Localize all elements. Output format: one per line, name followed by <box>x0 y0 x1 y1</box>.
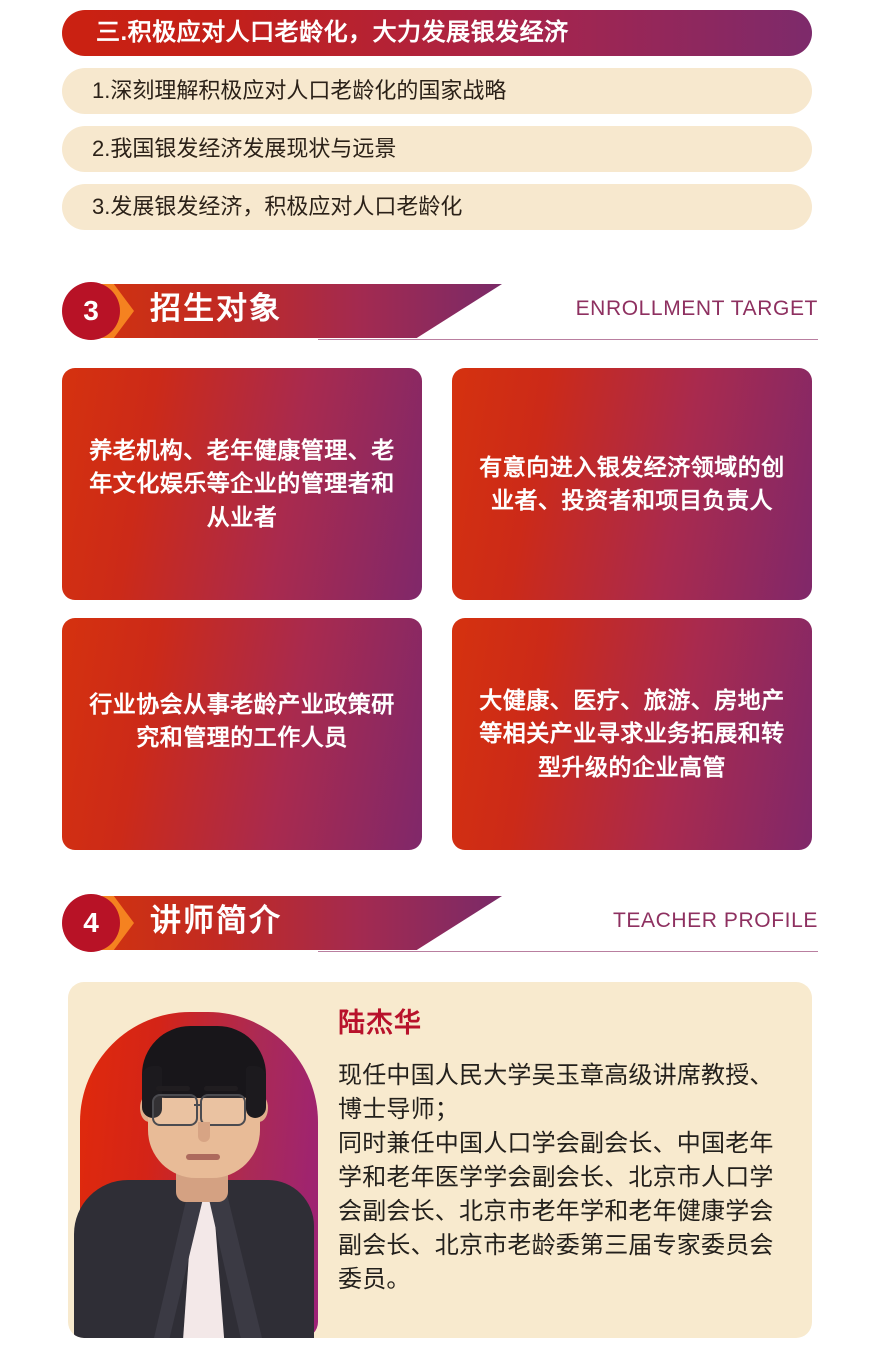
portrait-mouth <box>186 1154 220 1160</box>
teacher-portrait-illustration <box>68 982 320 1338</box>
portrait-glasses-left <box>152 1094 198 1126</box>
teacher-photo <box>68 982 320 1338</box>
enrollment-card-grid: 养老机构、老年健康管理、老年文化娱乐等企业的管理者和从业者 有意向进入银发经济领… <box>62 368 812 850</box>
section-number-text: 3 <box>83 297 99 325</box>
enrollment-card-4-text: 大健康、医疗、旅游、房地产等相关产业寻求业务拓展和转型升级的企业高管 <box>474 684 790 784</box>
section-number-badge: 3 <box>62 282 120 340</box>
outline-item-1-label: 1.深刻理解积极应对人口老龄化的国家战略 <box>92 80 506 102</box>
section-subtitle-enrollment: ENROLLMENT TARGET <box>576 298 818 319</box>
enrollment-card-3: 行业协会从事老龄产业政策研究和管理的工作人员 <box>62 618 422 850</box>
portrait-eyebrow-left <box>156 1086 190 1091</box>
outline-item-3: 3.发展银发经济，积极应对人口老龄化 <box>62 184 812 230</box>
course-outline-block: 三.积极应对人口老龄化，大力发展银发经济 1.深刻理解积极应对人口老龄化的国家战… <box>62 10 812 230</box>
section-header-enrollment: 3 招生对象 ENROLLMENT TARGET <box>62 282 818 344</box>
portrait-nose <box>198 1122 210 1142</box>
portrait-glasses-bridge <box>194 1104 202 1106</box>
section-number-badge: 4 <box>62 894 120 952</box>
enrollment-card-2: 有意向进入银发经济领域的创业者、投资者和项目负责人 <box>452 368 812 600</box>
section-title-teacher: 讲师简介 <box>150 905 282 936</box>
enrollment-card-3-text: 行业协会从事老龄产业政策研究和管理的工作人员 <box>84 688 400 755</box>
section-underline <box>318 951 818 952</box>
enrollment-card-2-text: 有意向进入银发经济领域的创业者、投资者和项目负责人 <box>474 451 790 518</box>
teacher-name: 陆杰华 <box>338 1010 788 1037</box>
teacher-profile-panel: 陆杰华 现任中国人民大学吴玉章高级讲席教授、博士导师； 同时兼任中国人口学会副会… <box>68 982 812 1338</box>
outline-title-bar: 三.积极应对人口老龄化，大力发展银发经济 <box>62 10 812 56</box>
section-number-text: 4 <box>83 909 99 937</box>
outline-item-2: 2.我国银发经济发展现状与远景 <box>62 126 812 172</box>
outline-item-1: 1.深刻理解积极应对人口老龄化的国家战略 <box>62 68 812 114</box>
outline-item-2-label: 2.我国银发经济发展现状与远景 <box>92 138 396 160</box>
enrollment-card-1: 养老机构、老年健康管理、老年文化娱乐等企业的管理者和从业者 <box>62 368 422 600</box>
outline-item-3-label: 3.发展银发经济，积极应对人口老龄化 <box>92 196 462 218</box>
teacher-bio: 现任中国人民大学吴玉章高级讲席教授、博士导师； 同时兼任中国人口学会副会长、中国… <box>338 1059 788 1298</box>
section-header-teacher: 4 讲师简介 TEACHER PROFILE <box>62 894 818 956</box>
outline-title-text: 三.积极应对人口老龄化，大力发展银发经济 <box>96 21 569 45</box>
section-title-enrollment: 招生对象 <box>150 293 282 324</box>
section-subtitle-teacher: TEACHER PROFILE <box>613 910 818 931</box>
section-underline <box>318 339 818 340</box>
portrait-eyebrow-right <box>204 1086 238 1091</box>
poster-page: 三.积极应对人口老龄化，大力发展银发经济 1.深刻理解积极应对人口老龄化的国家战… <box>0 0 873 1353</box>
enrollment-card-1-text: 养老机构、老年健康管理、老年文化娱乐等企业的管理者和从业者 <box>84 434 400 534</box>
portrait-hair-right <box>246 1066 266 1118</box>
enrollment-card-4: 大健康、医疗、旅游、房地产等相关产业寻求业务拓展和转型升级的企业高管 <box>452 618 812 850</box>
teacher-info: 陆杰华 现任中国人民大学吴玉章高级讲席教授、博士导师； 同时兼任中国人口学会副会… <box>338 1010 788 1298</box>
